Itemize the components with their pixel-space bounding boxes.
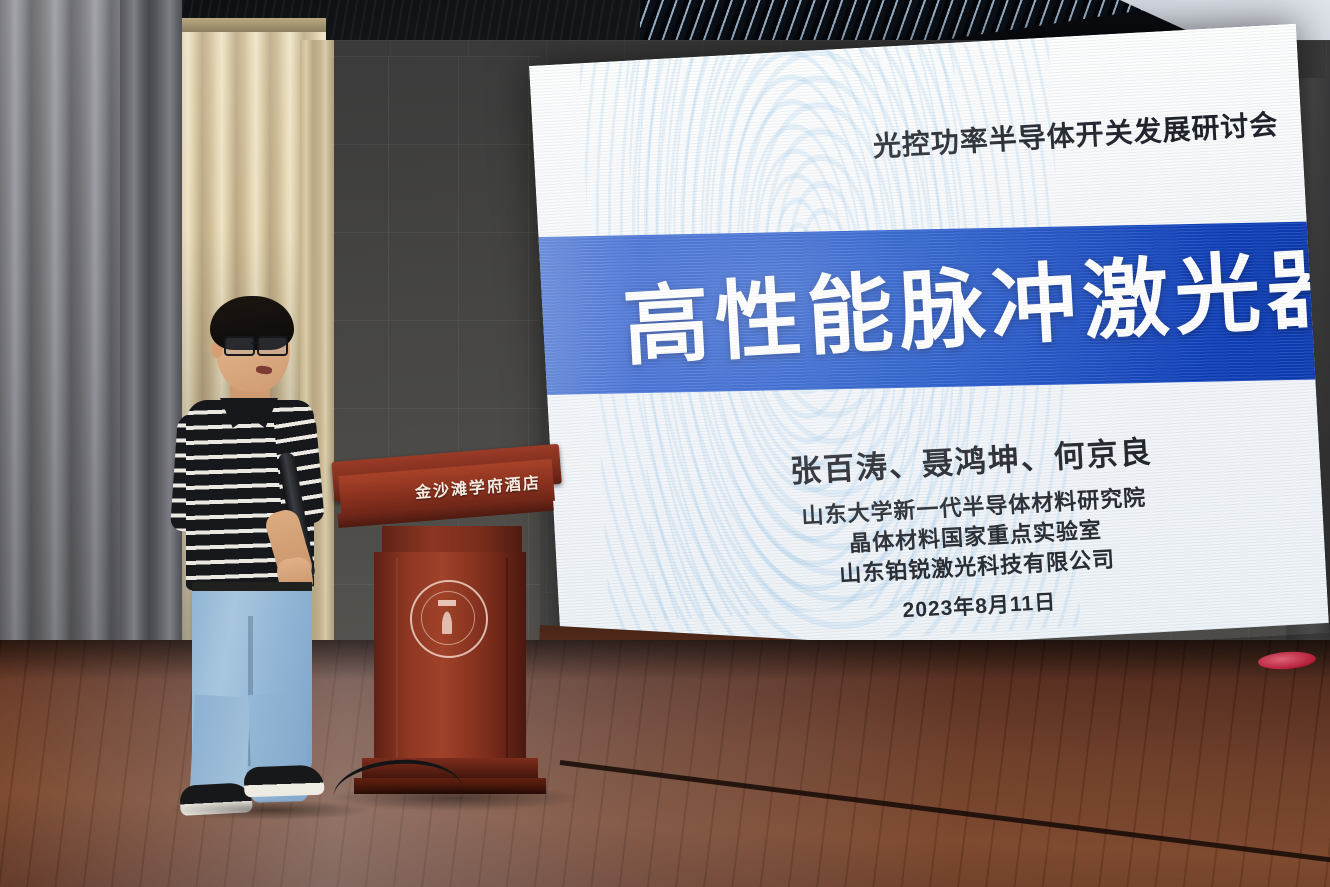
university-emblem-icon xyxy=(410,580,488,658)
presenter-right-shoe xyxy=(244,765,325,798)
curtain-rod xyxy=(176,18,326,32)
presenter-belt xyxy=(192,582,312,591)
presenter xyxy=(168,296,368,816)
podium-shadow xyxy=(330,785,580,811)
eyeglasses-bridge xyxy=(251,342,259,344)
led-screen: 光控功率半导体开关发展研讨会 高性能脉冲激光器 张百涛、聂鸿坤、何京良 山东大学… xyxy=(529,24,1329,675)
slide-surface: 光控功率半导体开关发展研讨会 高性能脉冲激光器 张百涛、聂鸿坤、何京良 山东大学… xyxy=(529,24,1329,665)
eyeglasses-icon xyxy=(224,336,292,353)
presentation-scene: 光控功率半导体开关发展研讨会 高性能脉冲激光器 张百涛、聂鸿坤、何京良 山东大学… xyxy=(0,0,1330,887)
